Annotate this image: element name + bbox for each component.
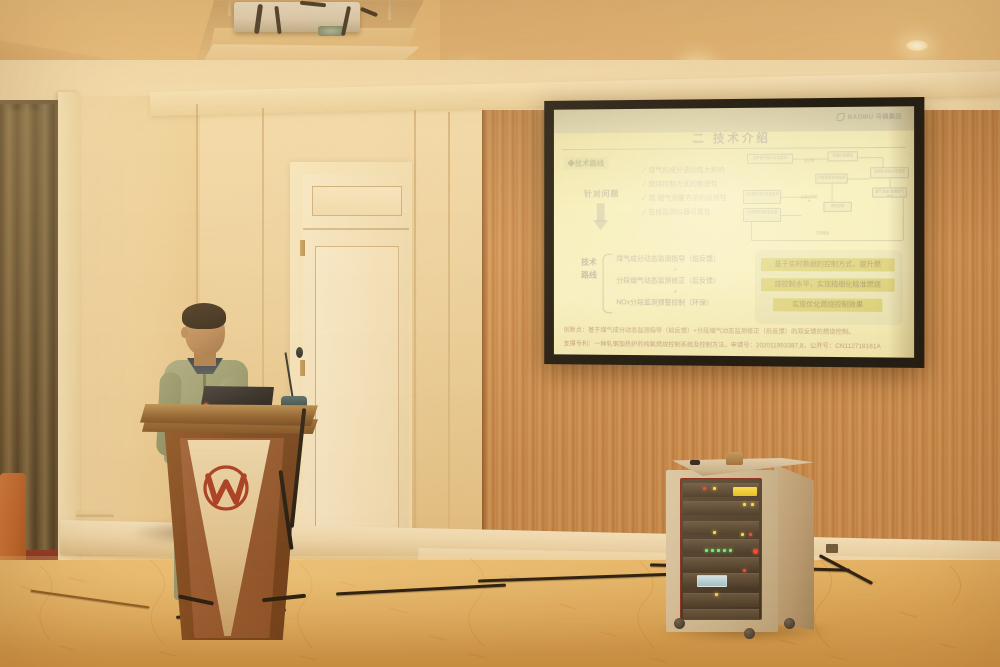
- flow-box: 燃烧控制: [823, 202, 851, 212]
- av-equipment-rack: [666, 452, 814, 638]
- highlight-line: 烧控制水平，实现精细化精准燃烧: [761, 278, 895, 292]
- route-connector: +: [616, 287, 735, 299]
- status-led-icon: [753, 549, 758, 554]
- rack-caster: [784, 618, 795, 629]
- projector-mount-rod: [388, 0, 391, 20]
- rack-unit: [683, 521, 759, 535]
- baowu-logo: BAOWU 马钢集团: [837, 111, 902, 121]
- wallpaper-left-edge: [482, 110, 488, 568]
- process-flow-diagram: 高炉煤气成分在线监测 成分值 热值计算模型 空燃比优化计算模型 煤气流量 助燃空…: [743, 151, 913, 247]
- flow-box: 炉膛温度在线监测: [815, 173, 847, 183]
- rack-unit: [683, 593, 759, 607]
- rack-unit: [683, 539, 759, 553]
- status-led-icon: [703, 487, 706, 490]
- rack-unit: [683, 501, 759, 515]
- door-hinge: [300, 240, 305, 256]
- flow-box: 煤气流量 助燃空气流量: [872, 187, 907, 197]
- rack-lcd-display: [697, 575, 727, 587]
- innovation-note: 创新点：基于煤气成分动态监测指导（前反馈）+分段烟气动态监测修正（后反馈）的双反…: [564, 325, 855, 336]
- status-led-icon: [743, 503, 746, 506]
- rack-unit: [683, 609, 759, 620]
- status-led-icon: [751, 503, 754, 506]
- microphone-capsule-icon: [296, 347, 303, 358]
- wall-seam: [414, 110, 416, 562]
- down-arrow-icon: [597, 203, 605, 221]
- projection-screen: BAOWU 马钢集团 二 技术介绍 ◆技术路线 针对问题 煤气的成分波动性大影响…: [544, 97, 924, 368]
- status-led-icon: [741, 533, 744, 536]
- status-led-icon: [717, 549, 720, 552]
- venue-w-logo: [198, 462, 254, 518]
- status-led-icon: [711, 549, 714, 552]
- rack-caster: [674, 618, 685, 629]
- flow-box: 高炉煤气成分在线监测: [747, 154, 793, 164]
- route-label: 技术路线: [579, 256, 599, 282]
- brace-icon: [603, 254, 613, 313]
- slide-title: 二 技术介绍: [554, 129, 914, 148]
- flow-label: 控制输出: [809, 230, 835, 238]
- projector-lens: [318, 26, 344, 36]
- slide-title-rule: [562, 147, 906, 150]
- slide-section-heading: ◆技术路线: [564, 157, 608, 170]
- presentation-slide: BAOWU 马钢集团 二 技术介绍 ◆技术路线 针对问题 煤气的成分波动性大影响…: [554, 106, 914, 358]
- projector-mount-rod: [228, 0, 231, 16]
- door-hinge: [300, 360, 305, 376]
- route-connector: +: [616, 265, 735, 276]
- door-recessed-panel: [315, 246, 399, 566]
- problem-label: 针对问题: [573, 188, 630, 199]
- presenter-ear: [181, 327, 188, 338]
- down-arrow-icon: [593, 220, 609, 230]
- flow-box: 分段烟气残氧量监测: [743, 208, 781, 222]
- status-led-icon: [713, 531, 716, 534]
- presenter-hair: [182, 303, 226, 329]
- rack-top-switch[interactable]: [690, 460, 700, 465]
- wall-seam: [448, 112, 450, 562]
- door-transom-panel: [312, 186, 402, 216]
- wall-power-socket: [826, 544, 838, 553]
- highlight-line: 基于实时数据的控制方式，提升燃: [761, 258, 895, 271]
- patent-note: 支撑专利：一种轧钢加热炉的纯氧燃烧控制系统及控制方法。申请号：202011993…: [564, 339, 881, 351]
- rack-caster: [744, 628, 755, 639]
- flow-box: 分段烟气成分在线监测: [743, 190, 781, 204]
- flow-box: 空燃比优化计算模型: [870, 167, 909, 178]
- rack-unit: [683, 557, 759, 571]
- conference-room-scene: BAOWU 马钢集团 二 技术介绍 ◆技术路线 针对问题 煤气的成分波动性大影响…: [0, 0, 1000, 667]
- rack-side-panel: [774, 464, 814, 630]
- status-led-icon: [723, 549, 726, 552]
- status-led-icon: [749, 533, 752, 536]
- status-led-icon: [705, 549, 708, 552]
- rack-glass-door[interactable]: [680, 478, 762, 620]
- podium-worktop: [140, 404, 318, 426]
- rack-top-knob[interactable]: [726, 452, 743, 465]
- status-led-icon: [743, 569, 746, 572]
- status-led-icon: [715, 593, 718, 596]
- status-led-icon: [729, 549, 732, 552]
- ceiling-downlight: [906, 40, 928, 51]
- rack-amber-display: [733, 487, 757, 496]
- door-mid-rail: [303, 228, 409, 230]
- flow-label: 过量空气系数: [799, 194, 819, 202]
- screen-surface: BAOWU 马钢集团 二 技术介绍 ◆技术路线 针对问题 煤气的成分波动性大影响…: [554, 106, 914, 358]
- venue-w-logo-svg: [198, 462, 254, 518]
- status-led-icon: [713, 487, 716, 490]
- baowu-logo-mark: [837, 112, 845, 120]
- baowu-logo-text: BAOWU 马钢集团: [848, 111, 902, 121]
- highlight-line: 实现优化燃烧控制效果: [773, 298, 882, 312]
- flow-box: 热值计算模型: [827, 151, 857, 161]
